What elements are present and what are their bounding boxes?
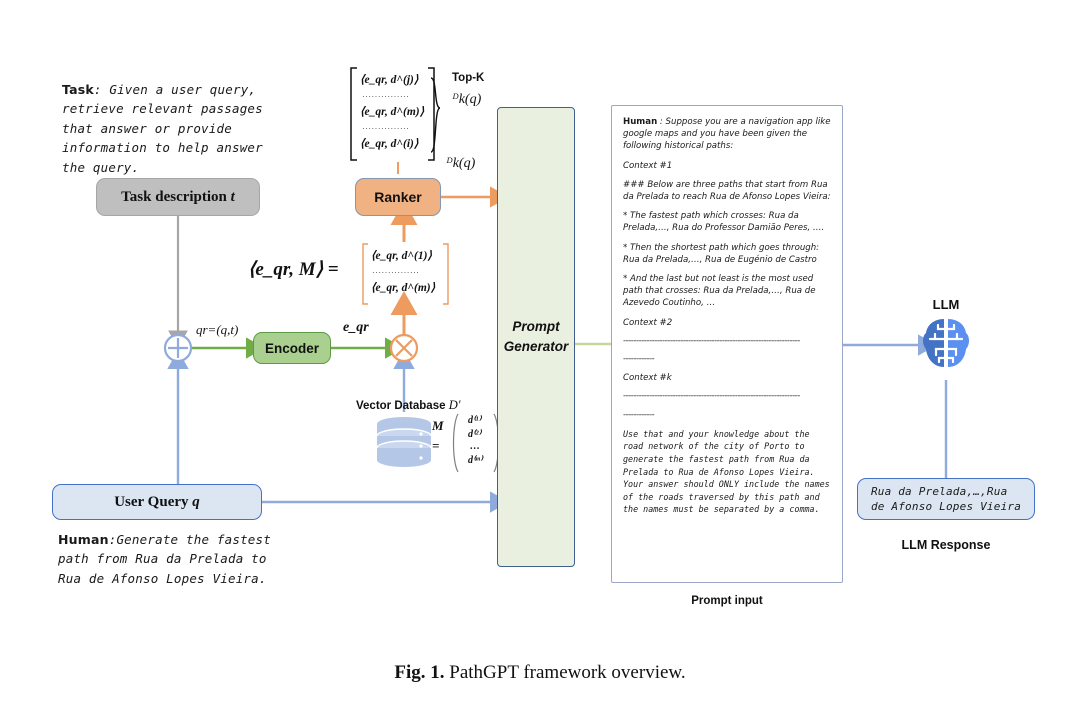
prompt-intro: Human : Suppose you are a navigation app… (623, 116, 831, 153)
topk-matrix: ⟨e_qr, d^(j)⟩ ··············· ⟨e_qr, d^(… (348, 66, 438, 162)
user-query-box[interactable]: User Query q (52, 484, 262, 520)
vector-db-symbol: D′ (449, 398, 461, 412)
task-description-text: Task: Given a user query, retrieve relev… (62, 80, 292, 177)
llm-response-box[interactable]: Rua da Prelada,…,Rua de Afonso Lopes Vie… (857, 478, 1035, 520)
prompt-context1-head: ### Below are three paths that start fro… (623, 179, 831, 203)
prompt-context2-label: Context #2 (623, 317, 831, 329)
user-query-box-label: User Query (114, 494, 188, 511)
ranker-output-label: ᴰk(q) (446, 156, 475, 172)
vector-db-equals: = (432, 438, 439, 454)
vector-db-row-3: … (470, 441, 480, 452)
vector-db-title-text: Vector Database (356, 400, 446, 412)
prompt-path-fastest: * The fastest path which crosses: Rua da… (623, 210, 831, 234)
prompt-contextk-label: Context #k (623, 372, 831, 384)
llm-label: LLM (906, 297, 986, 312)
inner-product-row-2: ⟨e_qr, d^(m)⟩ (371, 280, 435, 294)
task-description-box[interactable]: Task description t (96, 178, 260, 216)
llm-response-line2: de Afonso Lopes Vieira (871, 499, 1021, 514)
task-box-label: Task description (121, 189, 227, 206)
topk-dots-1: ··············· (362, 92, 409, 101)
inner-product-dots: ··············· (372, 268, 419, 277)
inner-product-lhs: ⟨e_qr, M⟩ = (248, 258, 339, 281)
user-query-box-symbol: q (192, 494, 200, 511)
topk-dots-2: ··············· (362, 124, 409, 133)
prompt-instruction: Use that and your knowledge about the ro… (623, 428, 831, 516)
inner-product-row-1: ⟨e_qr, d^(1)⟩ (371, 248, 432, 262)
inner-product-matrix: ⟨e_qr, d^(1)⟩ ··············· ⟨e_qr, d^(… (360, 242, 452, 306)
prompt-path-mostused: * And the last but not least is the most… (623, 273, 831, 310)
encoder-output-label: e_qr (343, 320, 369, 336)
vector-db-row-4: d⁽ᵐ⁾ (468, 455, 482, 466)
topk-symbol: ᴰk(q) (452, 92, 481, 108)
database-cylinder-icon (374, 416, 434, 470)
task-box-symbol: t (231, 189, 235, 206)
vector-db-matrix-label: M (432, 418, 444, 434)
topk-row-1: ⟨e_qr, d^(j)⟩ (360, 72, 418, 86)
encoder-box[interactable]: Encoder (253, 332, 331, 364)
figure-caption-prefix: Fig. 1. (394, 662, 444, 683)
llm-response-line1: Rua da Prelada,…,Rua (871, 484, 1021, 499)
topk-row-2: ⟨e_qr, d^(m)⟩ (360, 104, 424, 118)
figure-caption-text: PathGPT framework overview. (449, 662, 685, 683)
vector-db-matrix: M = d⁽¹⁾ d⁽²⁾ … d⁽ᵐ⁾ (432, 412, 502, 474)
prompt-input-box[interactable]: Human : Suppose you are a navigation app… (611, 105, 843, 583)
encoder-input-label: qr=(q,t) (196, 322, 238, 338)
llm-response-caption: LLM Response (857, 538, 1035, 552)
llm-response-text: Rua da Prelada,…,Rua de Afonso Lopes Vie… (871, 484, 1021, 515)
task-label: Task (62, 82, 94, 97)
topk-title: Top-K (452, 72, 484, 84)
inner-product-operator-icon (391, 335, 417, 361)
brain-circuit-icon (920, 315, 972, 371)
ranker-label: Ranker (374, 189, 421, 205)
figure-canvas: Task: Given a user query, retrieve relev… (0, 0, 1080, 726)
prompt-generator-box[interactable]: Prompt Generator (497, 107, 575, 567)
prompt-separator-2-short: ------------ (623, 410, 831, 421)
concat-operator-icon (165, 335, 191, 361)
prompt-path-shortest: * Then the shortest path which goes thro… (623, 242, 831, 266)
encoder-label: Encoder (265, 341, 319, 356)
ranker-box[interactable]: Ranker (355, 178, 441, 216)
topk-row-3: ⟨e_qr, d^(i)⟩ (360, 136, 418, 150)
prompt-generator-line2: Generator (504, 337, 569, 357)
user-query-human-label: Human (58, 532, 109, 547)
prompt-separator-1-short: ------------ (623, 354, 831, 365)
vector-db-title: Vector Database D′ (356, 398, 460, 413)
user-query-text: Human:Generate the fastest path from Rua… (58, 530, 278, 588)
prompt-separator-1-long: ----------------------------------------… (623, 336, 831, 347)
figure-caption: Fig. 1. PathGPT framework overview. (0, 662, 1080, 684)
prompt-human-label: Human (623, 117, 657, 127)
prompt-generator-line1: Prompt (512, 317, 559, 337)
prompt-context1-label: Context #1 (623, 160, 831, 172)
prompt-input-caption: Prompt input (611, 595, 843, 607)
vector-db-row-2: d⁽²⁾ (468, 429, 481, 440)
prompt-separator-2-long: ----------------------------------------… (623, 391, 831, 402)
vector-db-row-1: d⁽¹⁾ (468, 415, 481, 426)
